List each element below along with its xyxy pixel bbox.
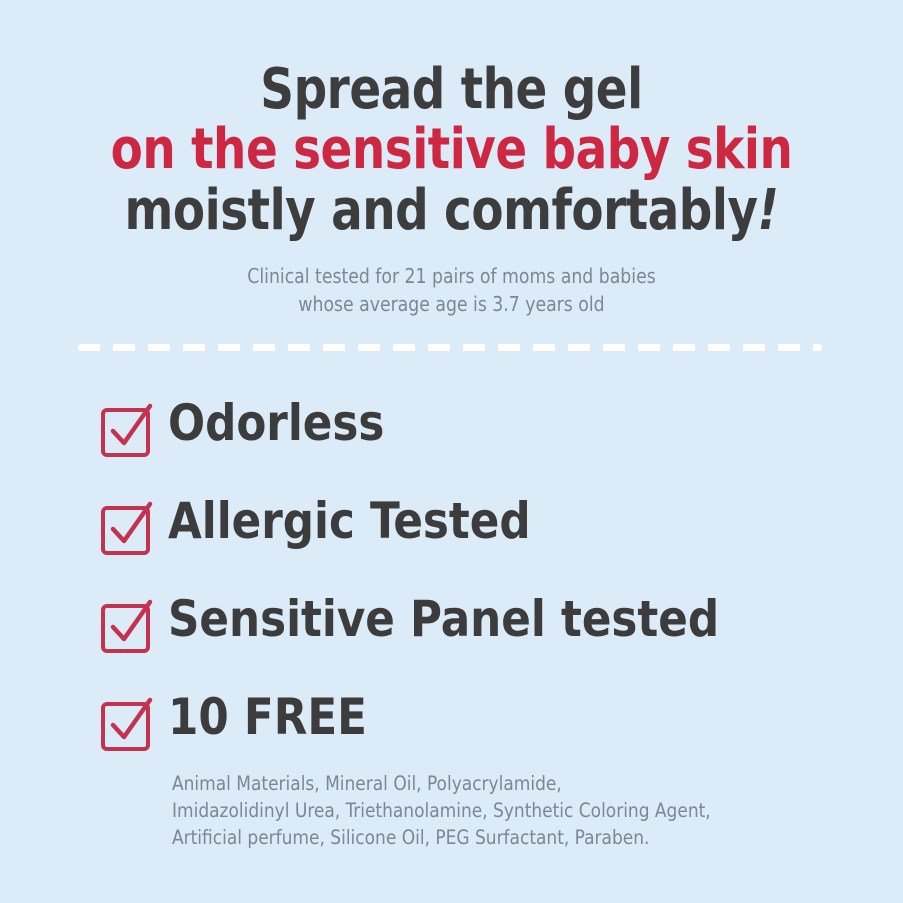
checkbox-checked-icon [100,499,156,557]
feature-label: Sensitive Panel tested [168,588,719,650]
feature-label: 10 FREE [168,686,367,748]
list-item: Allergic Tested [100,490,860,588]
headline-line-3-text: moistly and comfortably [125,178,758,243]
fineprint-line-3: Artificial perfume, Silicone Oil, PEG Su… [172,824,851,851]
checkbox-checked-icon [100,401,156,459]
caption-line-2: whose average age is 3.7 years old [18,290,885,318]
headline-line-3: moistly and comfortably! [32,181,872,241]
caption-line-1: Clinical tested for 21 pairs of moms and… [18,262,885,290]
headline-exclamation: ! [758,178,779,243]
headline-line-1: Spread the gel [32,62,872,118]
list-item: Sensitive Panel tested [100,588,860,686]
list-item: Odorless [100,392,860,490]
headline-line-2: on the sensitive baby skin [32,120,872,180]
promo-banner: Spread the gel on the sensitive baby ski… [0,0,903,903]
feature-list: Odorless Allergic Tested Sensitive Panel… [100,392,860,784]
checkbox-checked-icon [100,597,156,655]
feature-label: Odorless [168,392,384,454]
feature-label: Allergic Tested [168,490,531,552]
clinical-test-caption: Clinical tested for 21 pairs of moms and… [0,262,903,318]
dashed-divider [78,344,822,351]
checkbox-checked-icon [100,695,156,753]
fineprint-line-1: Animal Materials, Mineral Oil, Polyacryl… [172,770,851,797]
fineprint-line-2: Imidazolidinyl Urea, Triethanolamine, Sy… [172,797,851,824]
headline-block: Spread the gel on the sensitive baby ski… [0,62,903,241]
free-of-ingredients-list: Animal Materials, Mineral Oil, Polyacryl… [172,770,872,851]
